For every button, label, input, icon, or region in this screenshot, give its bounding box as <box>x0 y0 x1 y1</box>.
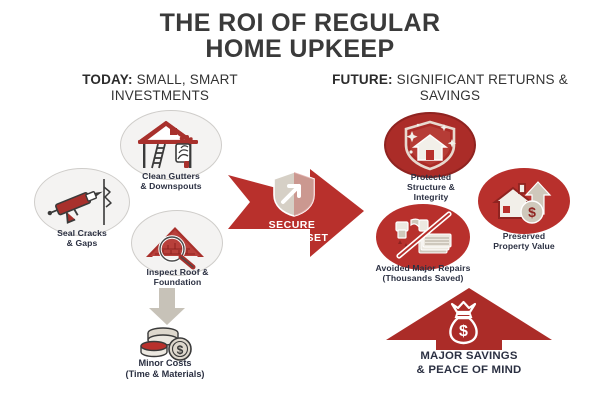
svg-text:$: $ <box>459 323 468 340</box>
center-arrow-secure-your-asset[interactable]: SECURE YOUR ASSET <box>228 163 368 268</box>
title-line-2: HOME UPKEEP <box>0 36 600 62</box>
house-ladder-gutter-icon <box>132 119 210 171</box>
page-title: THE ROI OF REGULAR HOME UPKEEP <box>0 10 600 62</box>
up-arrow-red: $ <box>386 288 552 350</box>
caption-protected-structure: Protected Structure & Integrity <box>386 172 476 203</box>
caption-minor-costs: Minor Costs (Time & Materials) <box>90 358 240 380</box>
house-up-arrow-dollar-icon: $ <box>491 176 557 226</box>
column-header-today: TODAY: SMALL, SMART INVESTMENTS <box>35 72 285 104</box>
svg-text:$: $ <box>528 204 536 220</box>
column-header-future-emphasis: FUTURE: <box>332 72 393 87</box>
title-line-1: THE ROI OF REGULAR <box>160 9 441 37</box>
center-arrow-label: SECURE YOUR ASSET <box>228 219 356 244</box>
badge-avoided-repairs[interactable] <box>376 204 470 270</box>
column-header-future: FUTURE: SIGNIFICANT RETURNS & SAVINGS <box>325 72 575 104</box>
caulking-gun-icon <box>46 177 118 227</box>
column-header-today-emphasis: TODAY: <box>82 72 132 87</box>
no-broken-pipe-cash-icon <box>389 212 457 262</box>
down-arrow-grey <box>148 288 186 326</box>
down-arrow-grey-icon <box>148 288 186 326</box>
caption-major-savings: MAJOR SAVINGS & PEACE OF MIND <box>378 350 560 377</box>
caption-preserved-value: Preserved Property Value <box>478 231 570 251</box>
badge-seal-cracks[interactable] <box>34 168 130 236</box>
caption-clean-gutters: Clean Gutters & Downspouts <box>121 171 221 191</box>
caption-inspect-roof: Inspect Roof & Foundation <box>130 267 225 287</box>
infographic-canvas: THE ROI OF REGULAR HOME UPKEEP TODAY: SM… <box>0 0 600 400</box>
coin-stack-icon: $ <box>136 325 198 361</box>
coin-stack: $ <box>136 325 198 361</box>
shield-arrow-up-icon-wrap <box>272 171 316 217</box>
up-arrow-red-money-bag-icon: $ <box>386 288 552 350</box>
svg-text:$: $ <box>177 343 184 357</box>
roof-magnifier-icon <box>142 219 212 267</box>
caption-seal-cracks: Seal Cracks & Gaps <box>36 228 128 248</box>
badge-clean-gutters[interactable] <box>120 110 222 180</box>
caption-avoided-repairs: Avoided Major Repairs (Thousands Saved) <box>363 263 483 283</box>
shield-house-sparkle-icon <box>398 119 462 171</box>
badge-preserved-value[interactable]: $ <box>478 168 570 234</box>
badge-protected-structure[interactable] <box>384 112 476 178</box>
shield-arrow-up-icon <box>272 171 316 217</box>
column-header-future-rest: SIGNIFICANT RETURNS & SAVINGS <box>393 72 568 103</box>
